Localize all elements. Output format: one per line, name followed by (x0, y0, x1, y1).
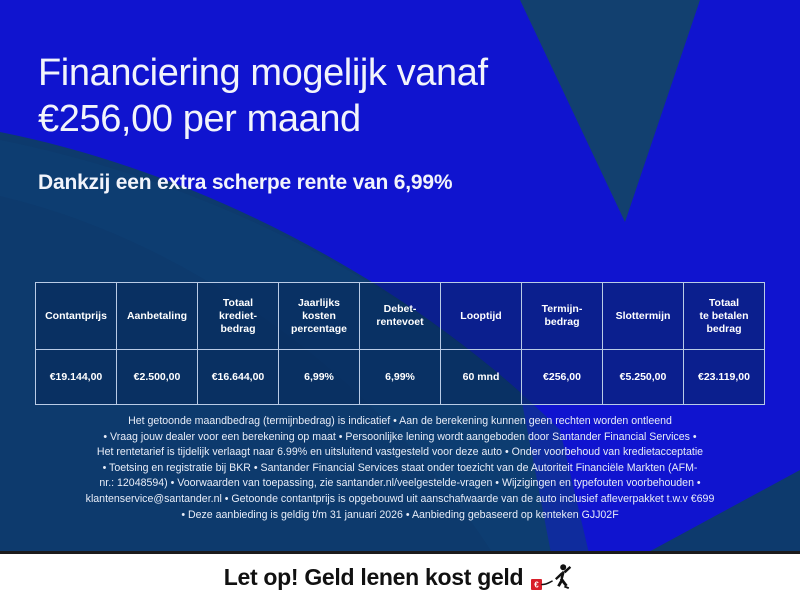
figure-head-shape (560, 564, 566, 570)
column-header-aanbetaling: Aanbetaling (117, 283, 198, 350)
disclaimer-line-7: • Deze aanbieding is geldig t/m 31 janua… (24, 508, 776, 524)
figure-front-foot-shape (564, 585, 569, 588)
column-header-contantprijs: Contantprijs (36, 283, 117, 350)
hero-block: Financiering mogelijk vanaf €256,00 per … (38, 50, 738, 196)
column-header-totaal-kredietbedrag: Totaal krediet- bedrag (198, 283, 279, 350)
cell-termijnbedrag: €256,00 (522, 350, 603, 405)
euro-block-symbol: € (535, 580, 540, 589)
walking-person-pulling-euro-block-icon: € (530, 563, 576, 593)
hero-title: Financiering mogelijk vanaf €256,00 per … (38, 50, 738, 142)
column-header-slottermijn: Slottermijn (603, 283, 684, 350)
cell-aanbetaling: €2.500,00 (117, 350, 198, 405)
financing-offer-banner: Financiering mogelijk vanaf €256,00 per … (0, 0, 800, 600)
cell-looptijd: 60 mnd (441, 350, 522, 405)
cell-jaarlijks-kosten-percentage: 6,99% (279, 350, 360, 405)
cell-totaal-kredietbedrag: €16.644,00 (198, 350, 279, 405)
column-header-debetrentevoet: Debet- rentevoet (360, 283, 441, 350)
disclaimer-text: Het getoonde maandbedrag (termijnbedrag)… (24, 414, 776, 523)
cell-slottermijn: €5.250,00 (603, 350, 684, 405)
cell-totaal-te-betalen-bedrag: €23.119,00 (684, 350, 765, 405)
cell-contantprijs: €19.144,00 (36, 350, 117, 405)
column-header-totaal-te-betalen-bedrag: Totaal te betalen bedrag (684, 283, 765, 350)
disclaimer-line-3: Het rentetarief is tijdelijk verlaagt na… (24, 445, 776, 461)
warning-banner-text: Let op! Geld lenen kost geld (224, 564, 524, 591)
disclaimer-line-4: • Toetsing en registratie bij BKR • Sant… (24, 461, 776, 477)
warning-banner-inner: Let op! Geld lenen kost geld € (224, 563, 577, 593)
table-row: €19.144,00 €2.500,00 €16.644,00 6,99% 6,… (36, 350, 765, 405)
column-header-looptijd: Looptijd (441, 283, 522, 350)
hero-subtitle: Dankzij een extra scherpe rente van 6,99… (38, 170, 738, 196)
finance-table-container: Contantprijs Aanbetaling Totaal krediet-… (35, 282, 765, 405)
tow-rope-shape (542, 581, 552, 584)
disclaimer-line-1: Het getoonde maandbedrag (termijnbedrag)… (24, 414, 776, 430)
disclaimer-line-6: klantenservice@santander.nl • Getoonde c… (24, 492, 776, 508)
finance-table: Contantprijs Aanbetaling Totaal krediet-… (35, 282, 765, 405)
table-header-row: Contantprijs Aanbetaling Totaal krediet-… (36, 283, 765, 350)
column-header-jaarlijks-kosten-percentage: Jaarlijks kosten percentage (279, 283, 360, 350)
cell-debetrentevoet: 6,99% (360, 350, 441, 405)
warning-banner: Let op! Geld lenen kost geld € (0, 551, 800, 600)
disclaimer-line-5: nr.: 12048594) • Voorwaarden van toepass… (24, 476, 776, 492)
column-header-termijnbedrag: Termijn- bedrag (522, 283, 603, 350)
disclaimer-line-2: • Vraag jouw dealer voor een berekening … (24, 430, 776, 446)
